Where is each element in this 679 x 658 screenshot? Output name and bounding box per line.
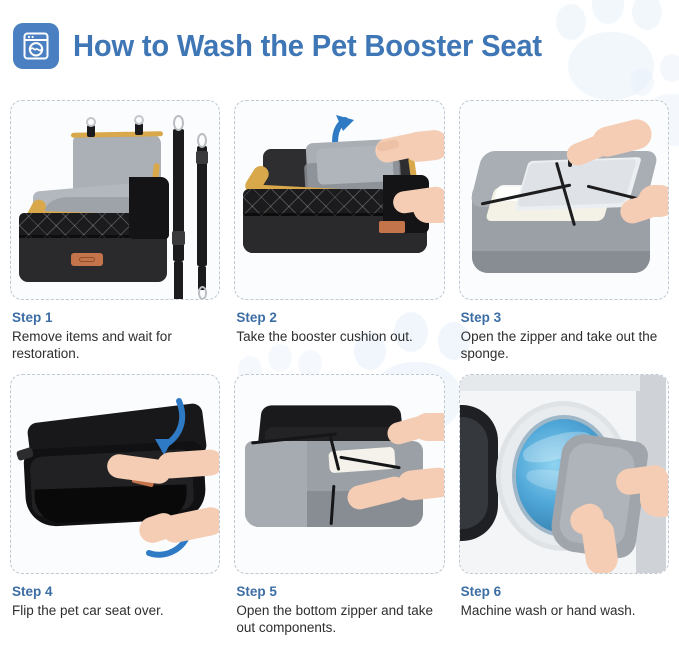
page-title: How to Wash the Pet Booster Seat <box>73 28 542 64</box>
step-image-6 <box>459 374 669 574</box>
infographic-page: How to Wash the Pet Booster Seat <box>0 0 679 658</box>
step-label: Step 1 <box>12 310 218 326</box>
step-text: Open the bottom zipper and take out comp… <box>236 602 442 637</box>
step-image-3 <box>459 100 669 300</box>
step-caption-3: Step 3 Open the zipper and take out the … <box>459 300 669 362</box>
step-caption-4: Step 4 Flip the pet car seat over. <box>10 574 220 619</box>
step-text: Flip the pet car seat over. <box>12 602 218 619</box>
steps-grid: Step 1 Remove items and wait for restora… <box>0 100 679 636</box>
step-label: Step 5 <box>236 584 442 600</box>
step-caption-1: Step 1 Remove items and wait for restora… <box>10 300 220 362</box>
washing-machine-icon <box>13 23 59 69</box>
step-label: Step 4 <box>12 584 218 600</box>
step-image-2 <box>234 100 444 300</box>
step-text: Machine wash or hand wash. <box>461 602 667 619</box>
page-header: How to Wash the Pet Booster Seat <box>0 0 679 92</box>
step-label: Step 3 <box>461 310 667 326</box>
step-card-3: Step 3 Open the zipper and take out the … <box>459 100 669 362</box>
step-caption-2: Step 2 Take the booster cushion out. <box>234 300 444 345</box>
step-label: Step 6 <box>461 584 667 600</box>
step-image-4 <box>10 374 220 574</box>
step-card-6: Step 6 Machine wash or hand wash. <box>459 374 669 636</box>
step-caption-5: Step 5 Open the bottom zipper and take o… <box>234 574 444 636</box>
step-card-5: Step 5 Open the bottom zipper and take o… <box>234 374 444 636</box>
step-caption-6: Step 6 Machine wash or hand wash. <box>459 574 669 619</box>
step-image-5 <box>234 374 444 574</box>
step-card-1: Step 1 Remove items and wait for restora… <box>10 100 220 362</box>
step-text: Take the booster cushion out. <box>236 328 442 345</box>
step-card-2: Step 2 Take the booster cushion out. <box>234 100 444 362</box>
step-text: Open the zipper and take out the sponge. <box>461 328 667 363</box>
step-text: Remove items and wait for restoration. <box>12 328 218 363</box>
step-card-4: Step 4 Flip the pet car seat over. <box>10 374 220 636</box>
step-image-1 <box>10 100 220 300</box>
curved-arrow-down-icon <box>131 395 187 457</box>
brand-tag <box>379 221 405 233</box>
step-label: Step 2 <box>236 310 442 326</box>
